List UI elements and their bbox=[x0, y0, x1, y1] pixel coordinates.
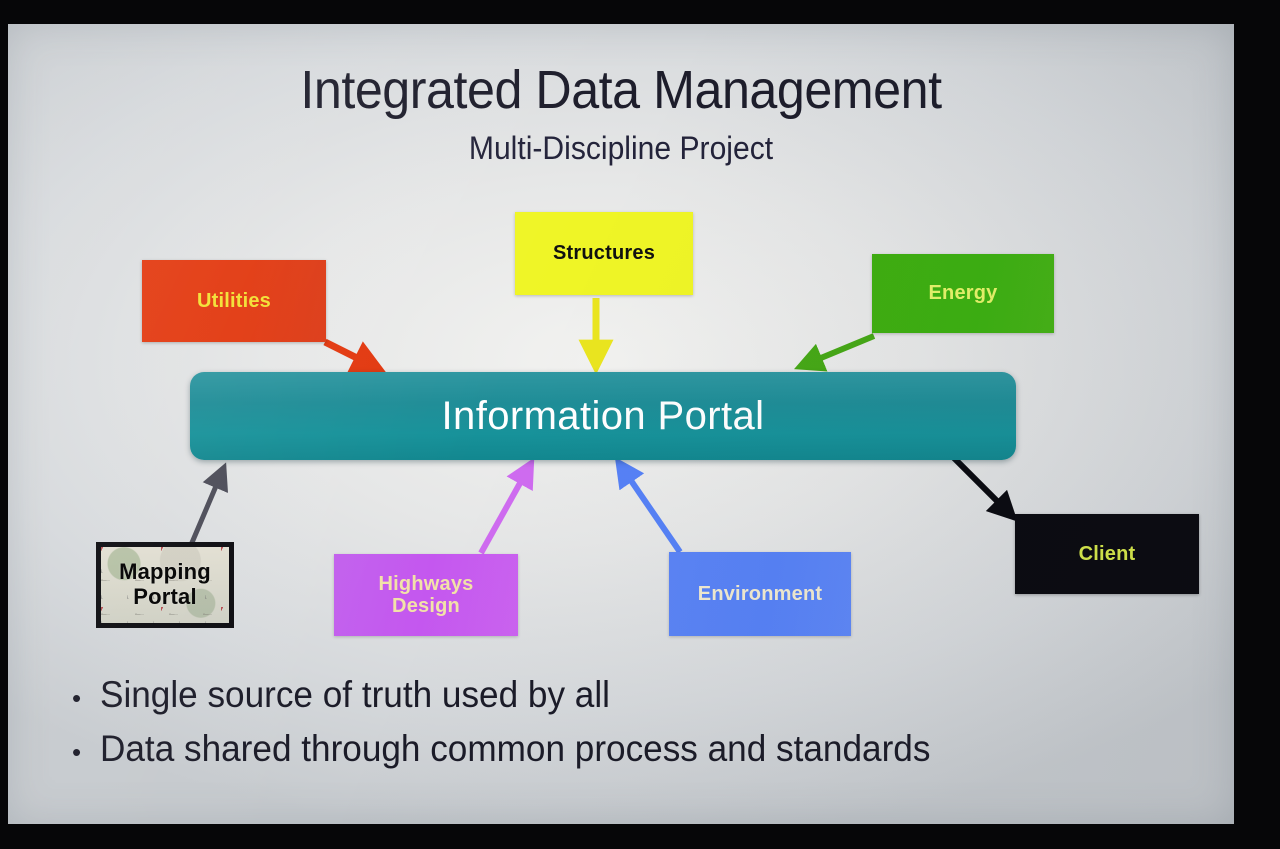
node-environment[interactable]: Environment bbox=[669, 552, 851, 636]
arrow-portal-to-client bbox=[952, 456, 1010, 514]
node-utilities-label: Utilities bbox=[197, 290, 271, 312]
node-structures[interactable]: Structures bbox=[515, 212, 693, 295]
node-information-portal[interactable]: Information Portal bbox=[190, 372, 1016, 460]
arrow-energy-to-portal bbox=[804, 336, 874, 365]
bullet-list: • Single source of truth used by all • D… bbox=[66, 674, 1186, 782]
node-energy-label: Energy bbox=[928, 282, 997, 304]
projected-slide-photo: Integrated Data Management Multi-Discipl… bbox=[0, 0, 1280, 849]
bullet-item-2: • Data shared through common process and… bbox=[66, 728, 1186, 770]
bullet-item-2-text: Data shared through common process and s… bbox=[100, 728, 930, 770]
node-highways-design-label-line1: Highways bbox=[379, 573, 474, 595]
node-environment-label: Environment bbox=[698, 583, 822, 605]
bullet-marker-icon: • bbox=[66, 685, 100, 711]
bullet-item-1: • Single source of truth used by all bbox=[66, 674, 1186, 716]
arrow-environment-to-portal bbox=[621, 466, 680, 552]
node-energy[interactable]: Energy bbox=[872, 254, 1054, 333]
page-subtitle: Multi-Discipline Project bbox=[45, 130, 1197, 167]
node-highways-design[interactable]: Highways Design bbox=[334, 554, 518, 636]
page-title: Integrated Data Management bbox=[51, 59, 1191, 121]
node-mapping-portal-label-line1: Mapping bbox=[119, 560, 211, 585]
node-information-portal-label: Information Portal bbox=[442, 394, 765, 439]
bullet-marker-icon: • bbox=[66, 739, 100, 765]
node-utilities[interactable]: Utilities bbox=[142, 260, 326, 342]
arrow-mapping-to-portal bbox=[188, 472, 222, 552]
node-mapping-portal[interactable]: Mapping Portal bbox=[96, 542, 234, 628]
arrow-highways-to-portal bbox=[481, 467, 529, 553]
node-client-label: Client bbox=[1079, 543, 1136, 565]
bullet-item-1-text: Single source of truth used by all bbox=[100, 674, 610, 716]
node-client[interactable]: Client bbox=[1015, 514, 1199, 594]
node-structures-label: Structures bbox=[553, 242, 655, 264]
slide-canvas: Integrated Data Management Multi-Discipl… bbox=[8, 24, 1234, 824]
node-mapping-portal-label-line2: Portal bbox=[133, 585, 197, 610]
arrow-utilities-to-portal bbox=[325, 342, 375, 367]
node-highways-design-label-line2: Design bbox=[392, 595, 460, 617]
